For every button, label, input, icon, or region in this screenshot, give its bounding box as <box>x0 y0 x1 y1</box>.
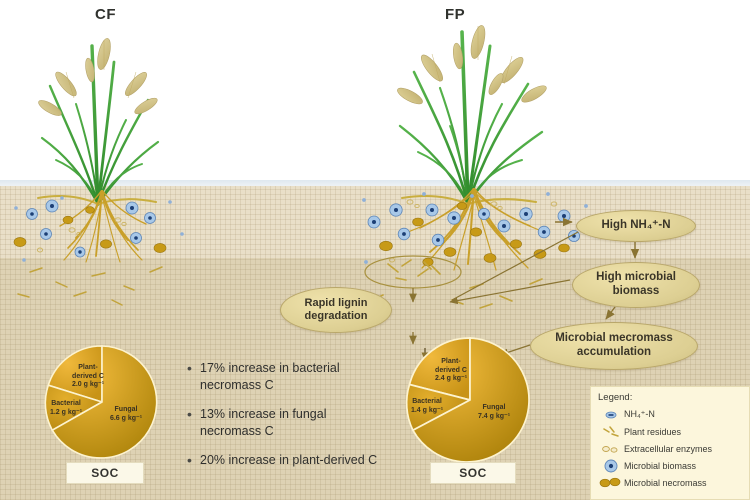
column-header-fp: FP <box>445 6 465 23</box>
flow-node-microbial-necromass-accumulation-label: Microbial mecromass accumulation <box>531 332 697 359</box>
root-zone-cf <box>10 190 195 270</box>
soc-pie-chart-fp: Plant- derived C 2.4 g kg⁻¹ Bacterial 1.… <box>400 330 540 470</box>
finding-item-1: 17% increase in bacterial necromass C <box>186 360 382 393</box>
legend-label-nh4: NH₄⁺-N <box>624 409 655 420</box>
legend-label-microbial-necromass: Microbial necromass <box>624 478 707 488</box>
figure-canvas: CF FP <box>0 0 750 500</box>
legend-row-extracellular-enzymes: Extracellular enzymes <box>598 440 743 457</box>
legend-row-microbial-biomass: Microbial biomass <box>598 457 743 474</box>
legend-label-extracellular-enzymes: Extracellular enzymes <box>624 444 712 454</box>
microbial-biomass-icon <box>598 458 624 473</box>
legend-row-nh4: NH₄⁺-N <box>598 406 743 423</box>
legend-label-plant-residues: Plant residues <box>624 427 681 437</box>
flow-node-high-nh4-label: High NH₄⁺-N <box>601 219 670 233</box>
finding-item-2: 13% increase in fungal necromass C <box>186 406 382 439</box>
legend-panel: Legend: NH₄⁺-N Plant residues Extracellu… <box>590 386 750 500</box>
soc-caption-fp: SOC <box>430 462 516 484</box>
findings-list: 17% increase in bacterial necromass C 13… <box>186 360 382 482</box>
microbial-necromass-icon <box>598 475 624 490</box>
finding-item-3: 20% increase in plant-derived C <box>186 452 382 469</box>
legend-label-microbial-biomass: Microbial biomass <box>624 461 696 471</box>
rice-plant-cf <box>20 28 200 203</box>
soc-pie-chart-cf: Plant- derived C 2.0 g kg⁻¹ Bacterial 1.… <box>38 338 166 466</box>
flow-node-high-microbial-biomass-label: High microbial biomass <box>573 271 699 298</box>
flow-node-rapid-lignin-degradation[interactable]: Rapid lignin degradation <box>280 287 392 333</box>
flow-node-high-nh4[interactable]: High NH₄⁺-N <box>576 210 696 242</box>
legend-row-microbial-necromass: Microbial necromass <box>598 474 743 491</box>
extracellular-enzymes-icon <box>598 441 624 456</box>
column-header-cf: CF <box>95 6 116 23</box>
nh4-ion-icon <box>598 407 624 422</box>
soc-caption-cf: SOC <box>66 462 144 484</box>
rice-plant-fp <box>370 22 570 204</box>
root-zone-fp <box>358 188 593 278</box>
flow-node-rapid-lignin-degradation-label: Rapid lignin degradation <box>281 297 391 323</box>
plant-residues-icon <box>598 424 624 439</box>
flow-node-high-microbial-biomass[interactable]: High microbial biomass <box>572 262 700 308</box>
legend-row-plant-residues: Plant residues <box>598 423 743 440</box>
flow-node-microbial-necromass-accumulation[interactable]: Microbial mecromass accumulation <box>530 322 698 370</box>
legend-title: Legend: <box>598 392 743 403</box>
